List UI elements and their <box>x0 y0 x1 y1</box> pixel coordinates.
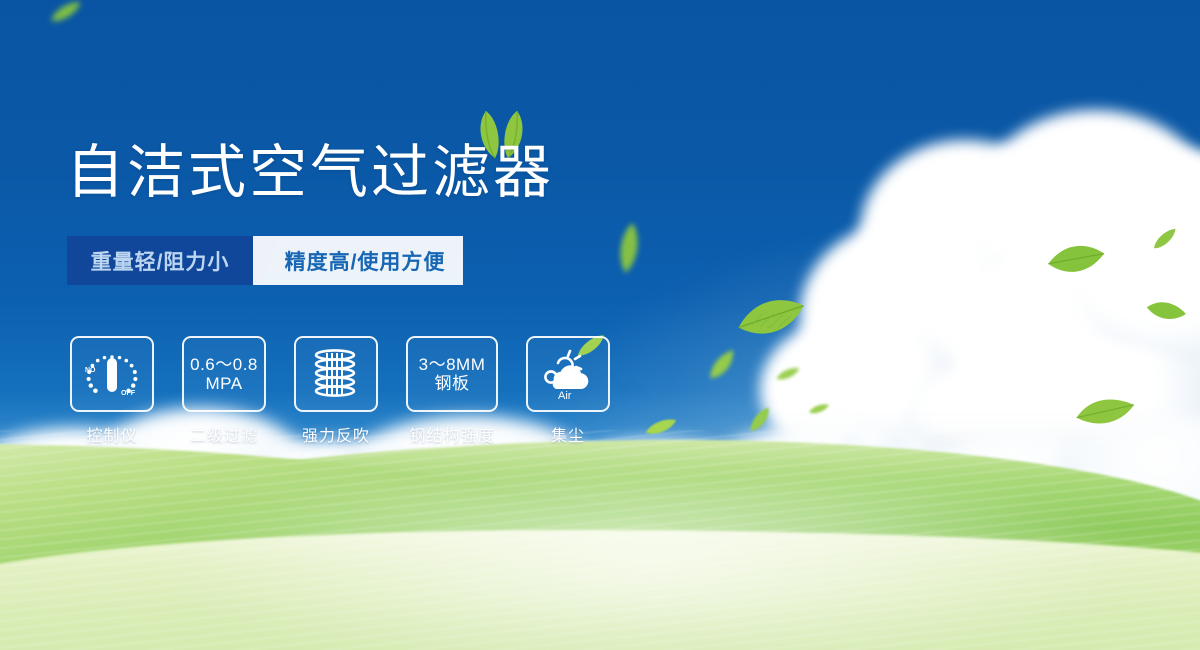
feature-label: 控制仪 <box>86 422 137 446</box>
feature-icon-box: NO OFF <box>70 336 154 412</box>
floating-leaf-icon <box>807 401 830 417</box>
subtitle-right-text: 精度高/使用方便 <box>271 246 446 276</box>
control-dial-icon: NO OFF <box>81 345 143 403</box>
feature-label: 钢结构强度 <box>409 422 494 446</box>
feature-item-steel[interactable]: 3〜8MM 钢板 钢结构强度 <box>406 336 498 446</box>
feature-icon-box: 0.6〜0.8 MPA <box>182 336 266 412</box>
feature-item-blowback[interactable]: 强力反吹 <box>294 336 378 446</box>
steel-plate-text-icon: 3〜8MM 钢板 <box>419 355 486 393</box>
feature-item-pressure[interactable]: 0.6〜0.8 MPA 二级过滤 <box>182 336 266 446</box>
pressure-text-icon: 0.6〜0.8 MPA <box>190 355 258 393</box>
subtitle-segment-right: 精度高/使用方便 <box>253 236 463 285</box>
steel-thickness: 3〜8MM <box>419 355 486 374</box>
svg-text:Air: Air <box>558 390 572 402</box>
feature-list: NO OFF 控制仪 0.6〜0.8 MPA 二级过滤 <box>70 336 610 446</box>
grass-field <box>0 430 1200 650</box>
grass-glow <box>120 480 1140 650</box>
product-banner: 自洁式空气过滤器 重量轻/阻力小 精度高/使用方便 <box>0 0 1200 650</box>
feature-item-dust[interactable]: Air 集尘 <box>526 336 610 446</box>
subtitle-segment-left: 重量轻/阻力小 <box>67 236 253 285</box>
feature-icon-box <box>294 336 378 412</box>
pressure-range: 0.6〜0.8 <box>190 355 258 374</box>
feature-icon-box: Air <box>526 336 610 412</box>
feature-item-control-dial[interactable]: NO OFF 控制仪 <box>70 336 154 446</box>
filter-stack-icon <box>308 345 364 403</box>
feature-label: 二级过滤 <box>190 422 258 446</box>
cloud-air-icon: Air <box>537 345 599 403</box>
svg-text:OFF: OFF <box>121 390 136 397</box>
svg-text:NO: NO <box>85 367 96 374</box>
feature-icon-box: 3〜8MM 钢板 <box>406 336 498 412</box>
pressure-unit: MPA <box>190 374 258 393</box>
feature-label: 集尘 <box>551 422 585 446</box>
steel-material: 钢板 <box>419 374 486 393</box>
page-title: 自洁式空气过滤器 <box>66 144 554 202</box>
subtitle-left-text: 重量轻/阻力小 <box>91 246 230 276</box>
feature-label: 强力反吹 <box>302 422 370 446</box>
subtitle-bar: 重量轻/阻力小 精度高/使用方便 <box>67 236 463 285</box>
